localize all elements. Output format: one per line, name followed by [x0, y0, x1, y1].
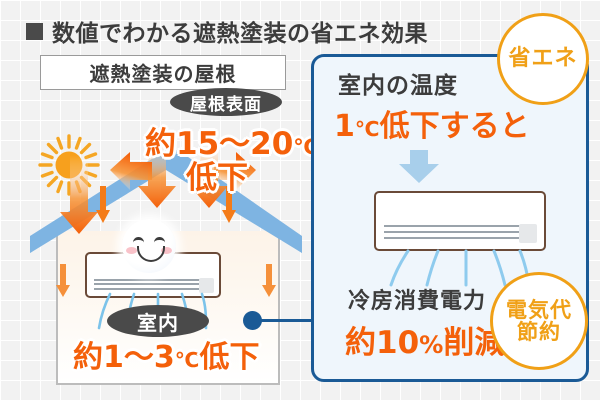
indoor-temp-label: 低下: [199, 340, 259, 375]
eave-arrow-right-icon: [262, 264, 276, 298]
interior-heat-arrow-left-icon: [96, 186, 110, 224]
reduction-unit: %: [419, 331, 443, 359]
smiling-face-icon: [122, 219, 176, 273]
bullet-square-icon: [26, 23, 43, 40]
infographic-root: 数値でわかる遮熱塗装の省エネ効果 遮熱塗装の屋根: [0, 0, 600, 400]
indoor-temp-unit: ℃: [175, 348, 200, 372]
panel-line-one-degree-drop: 1℃低下すると: [334, 101, 530, 145]
down-arrow-icon: [398, 150, 440, 184]
connector-dot: [243, 311, 262, 330]
eave-arrow-left-icon: [56, 264, 70, 298]
reduction-prefix: 約: [345, 325, 376, 361]
left-section-heading: 遮熱塗装の屋根: [40, 55, 286, 90]
electricity-saving-badge-line-1: 電気代: [506, 299, 572, 321]
electricity-saving-badge-line-2: 節約: [517, 321, 561, 343]
connector-line: [258, 319, 314, 322]
indoor-temp-number: 約1～3: [73, 340, 175, 375]
page-title: 数値でわかる遮熱塗装の省エネ効果: [26, 14, 428, 48]
roof-surface-badge: 屋根表面: [170, 88, 282, 116]
panel-line-ten-percent-reduction: 約10%削減: [345, 317, 505, 362]
panel-degree-rest: 低下すると: [380, 109, 530, 144]
roof-temperature-drop-label: 低下: [186, 152, 248, 197]
air-conditioner-icon-right: [374, 191, 546, 251]
page-title-text: 数値でわかる遮熱塗装の省エネ効果: [52, 14, 428, 48]
panel-degree-unit: ℃: [355, 117, 380, 141]
panel-line-indoor-temperature: 室内の温度: [338, 66, 458, 100]
panel-degree-value: 1: [334, 109, 355, 144]
eco-badge-line-1: 省エネ: [508, 47, 577, 70]
roof-surface-badge-text: 屋根表面: [190, 90, 262, 115]
reduction-value: 10: [376, 325, 419, 361]
eco-badge: 省エネ: [497, 13, 589, 105]
left-section-heading-text: 遮熱塗装の屋根: [90, 58, 237, 87]
panel-line-cooling-power: 冷房消費電力: [348, 283, 486, 315]
indoor-temperature-drop-value: 約1～3℃低下: [73, 332, 259, 376]
electricity-saving-badge: 電気代 節約: [490, 272, 588, 370]
